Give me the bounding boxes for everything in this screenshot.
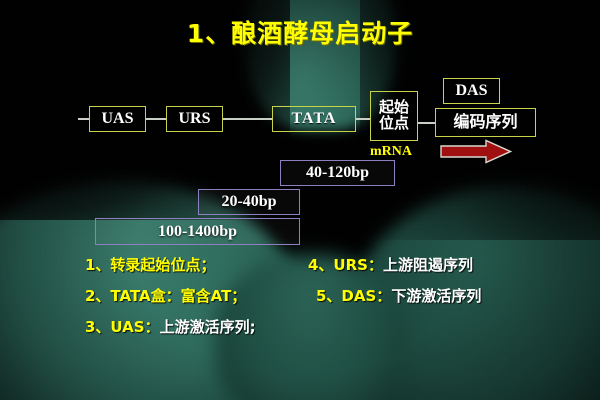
legend-item-4-description: 上游阻遏序列 xyxy=(383,256,473,274)
span-box-20-40bp-label: 20-40bp xyxy=(221,193,276,211)
legend-item-3-description: 上游激活序列; xyxy=(160,318,256,336)
legend-item-5-description: 下游激活序列 xyxy=(391,287,481,305)
legend-item-1-prefix: 1、转录起始位点； xyxy=(85,256,215,274)
promoter-diagram: UAS URS TATA 起始 位点 DAS 编码序列 xyxy=(0,0,600,400)
mrna-label: mRNA xyxy=(370,144,412,160)
diagram-box-tata[interactable]: TATA xyxy=(272,106,356,132)
legend-item-5-prefix: 5、DAS： xyxy=(316,287,391,305)
span-box-40-120bp-label: 40-120bp xyxy=(306,164,369,182)
slide-canvas: 1、酿酒酵母启动子 UAS URS TATA 起始 位点 xyxy=(0,0,600,400)
span-box-20-40bp[interactable]: 20-40bp xyxy=(198,189,300,215)
legend-item-5: 5、DAS：下游激活序列 xyxy=(316,285,481,306)
diagram-box-coding-sequence-label: 编码序列 xyxy=(453,114,517,131)
connector-uas-urs xyxy=(146,118,166,120)
diagram-box-uas-label: UAS xyxy=(101,111,133,128)
diagram-box-das[interactable]: DAS xyxy=(443,78,500,104)
legend-item-4-prefix: 4、URS： xyxy=(308,256,383,274)
diagram-box-start-site[interactable]: 起始 位点 xyxy=(370,91,418,141)
connector-urs-tata xyxy=(223,118,272,120)
diagram-box-urs[interactable]: URS xyxy=(166,106,223,132)
legend-item-2: 2、TATA盒：富含AT； xyxy=(85,285,246,306)
legend-item-3: 3、UAS：上游激活序列; xyxy=(85,316,256,337)
mrna-arrow-icon xyxy=(440,139,512,164)
diagram-box-tata-label: TATA xyxy=(292,111,337,128)
connector-start-cds xyxy=(418,122,435,124)
legend-item-2-prefix: 2、TATA盒：富含AT； xyxy=(85,287,246,305)
connector-tata-start xyxy=(356,118,370,120)
span-box-100-1400bp[interactable]: 100-1400bp xyxy=(95,218,300,245)
diagram-box-urs-label: URS xyxy=(178,111,210,128)
legend-item-4: 4、URS：上游阻遏序列 xyxy=(308,254,473,275)
diagram-box-coding-sequence[interactable]: 编码序列 xyxy=(435,108,536,137)
diagram-box-uas[interactable]: UAS xyxy=(89,106,146,132)
diagram-box-das-label: DAS xyxy=(455,83,487,100)
span-box-100-1400bp-label: 100-1400bp xyxy=(158,223,237,241)
span-box-40-120bp[interactable]: 40-120bp xyxy=(280,160,395,186)
diagram-box-start-site-label-line2: 位点 xyxy=(379,116,409,132)
legend-item-3-prefix: 3、UAS： xyxy=(85,318,160,336)
legend-item-1: 1、转录起始位点； xyxy=(85,254,215,275)
